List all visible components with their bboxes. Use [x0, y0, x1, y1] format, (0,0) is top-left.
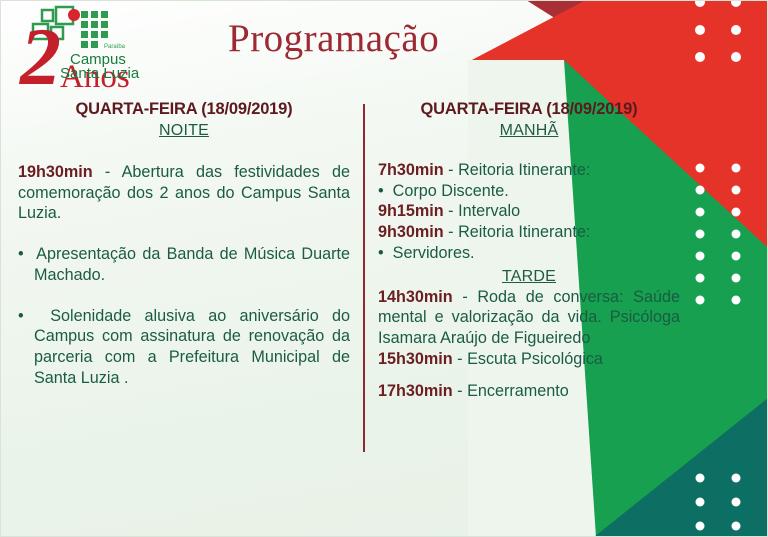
ifpb-campus-anniversary-logo: Paraíba 2 Anos Campus Santa Luzia [12, 2, 182, 94]
logo-campus-line2: Santa Luzia [60, 65, 140, 82]
right-morning-entry-0: 7h30min - Reitoria Itinerante: [378, 160, 680, 181]
ifpb-red-dot-icon [68, 9, 80, 21]
left-entry-0-time: 19h30min [18, 163, 93, 181]
right-morning-entry-0-text: - Reitoria Itinerante: [444, 161, 591, 179]
right-afternoon-entry-0: 14h30min - Roda de conversa: Saúde menta… [378, 287, 680, 349]
right-morning-entry-2-time: 9h15min [378, 202, 444, 220]
right-morning-entry-2-text: - Intervalo [444, 202, 520, 220]
program-column-right: QUARTA-FEIRA (18/09/2019) MANHÃ 7h30min … [378, 100, 680, 401]
logo-institution-label: Paraíba [104, 44, 126, 50]
page-title: Programação [228, 16, 439, 61]
right-day-title: QUARTA-FEIRA (18/09/2019) [378, 100, 680, 119]
right-morning-entry-3-time: 9h30min [378, 223, 444, 241]
left-entry-0: 19h30min - Abertura das festividades de … [18, 162, 350, 224]
right-morning-entry-0-time: 7h30min [378, 161, 444, 179]
right-afternoon-entry-1-time: 15h30min [378, 350, 453, 368]
right-afternoon-entry-0-time: 14h30min [378, 288, 453, 306]
right-morning-entry-2: 9h15min - Intervalo [378, 201, 680, 222]
right-afternoon-entry-2-time: 17h30min [378, 382, 453, 400]
right-morning-entry-3: 9h30min - Reitoria Itinerante: [378, 222, 680, 243]
logo-anniversary-number: 2 [19, 11, 61, 94]
right-morning-entry-1: Corpo Discente. [378, 181, 680, 202]
left-entry-2: Solenidade alusiva ao aniversário do Cam… [18, 306, 350, 389]
ifpb-dot-matrix [81, 11, 108, 48]
left-period-label: NOITE [18, 122, 350, 140]
program-column-left: QUARTA-FEIRA (18/09/2019) NOITE 19h30min… [18, 100, 350, 389]
right-afternoon-entry-2: 17h30min - Encerramento [378, 381, 680, 402]
program-poster: Paraíba 2 Anos Campus Santa Luzia Progra… [0, 0, 768, 537]
right-morning-entry-3-text: - Reitoria Itinerante: [444, 223, 591, 241]
right-morning-entry-4: Servidores. [378, 243, 680, 264]
right-afternoon-entry-1: 15h30min - Escuta Psicológica [378, 349, 680, 370]
column-divider [363, 104, 365, 452]
program-columns: QUARTA-FEIRA (18/09/2019) NOITE 19h30min… [0, 100, 768, 520]
left-day-title: QUARTA-FEIRA (18/09/2019) [18, 100, 350, 119]
right-afternoon-entry-1-text: - Escuta Psicológica [453, 350, 603, 368]
poster-header: Paraíba 2 Anos Campus Santa Luzia Progra… [0, 0, 768, 96]
right-period-morning-label: MANHÃ [378, 122, 680, 140]
right-period-afternoon-label: TARDE [378, 268, 680, 286]
left-entry-1: Apresentação da Banda de Música Duarte M… [18, 244, 350, 285]
right-afternoon-entry-2-text: - Encerramento [453, 382, 569, 400]
